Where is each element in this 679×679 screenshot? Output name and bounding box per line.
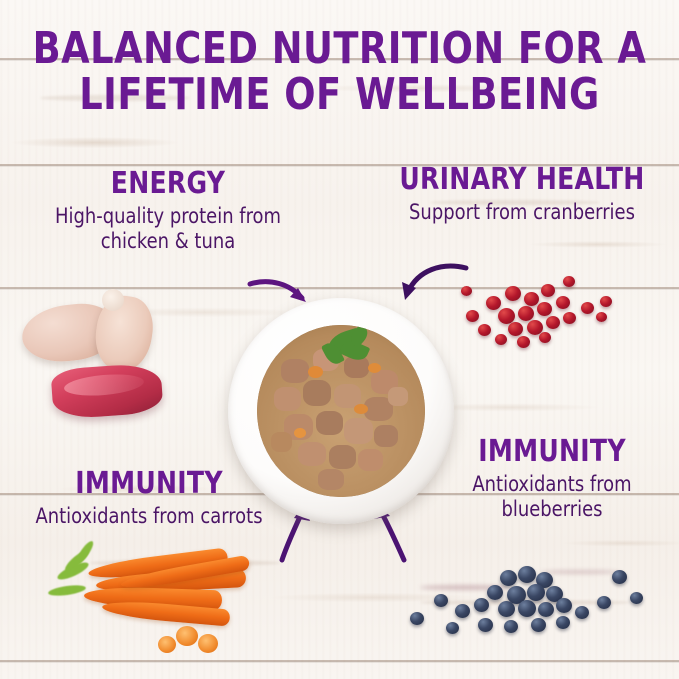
callout-energy-heading: ENERGY [29, 168, 308, 200]
plank-seam [0, 287, 679, 290]
callout-energy-body: High-quality protein from chicken & tuna [26, 204, 311, 254]
drumstick-bone [102, 289, 124, 311]
callout-energy: ENERGY High-quality protein from chicken… [18, 168, 318, 254]
page-title: BALANCED NUTRITION FOR A LIFETIME OF WEL… [24, 26, 655, 118]
pet-food-bowl [228, 298, 454, 524]
callout-immunity-blueberries: IMMUNITY Antioxidants from blueberries [432, 436, 672, 522]
plank-seam [0, 660, 679, 663]
callout-blueberries-heading: IMMUNITY [440, 436, 663, 468]
callout-urinary-health: URINARY HEALTH Support from cranberries [372, 164, 672, 225]
infographic-canvas: BALANCED NUTRITION FOR A LIFETIME OF WEL… [0, 0, 679, 679]
callout-blueberries-body: Antioxidants from blueberries [438, 472, 666, 522]
bowl-contents [257, 325, 424, 497]
callout-urinary-heading: URINARY HEALTH [383, 164, 662, 196]
callout-urinary-body: Support from cranberries [380, 200, 665, 225]
